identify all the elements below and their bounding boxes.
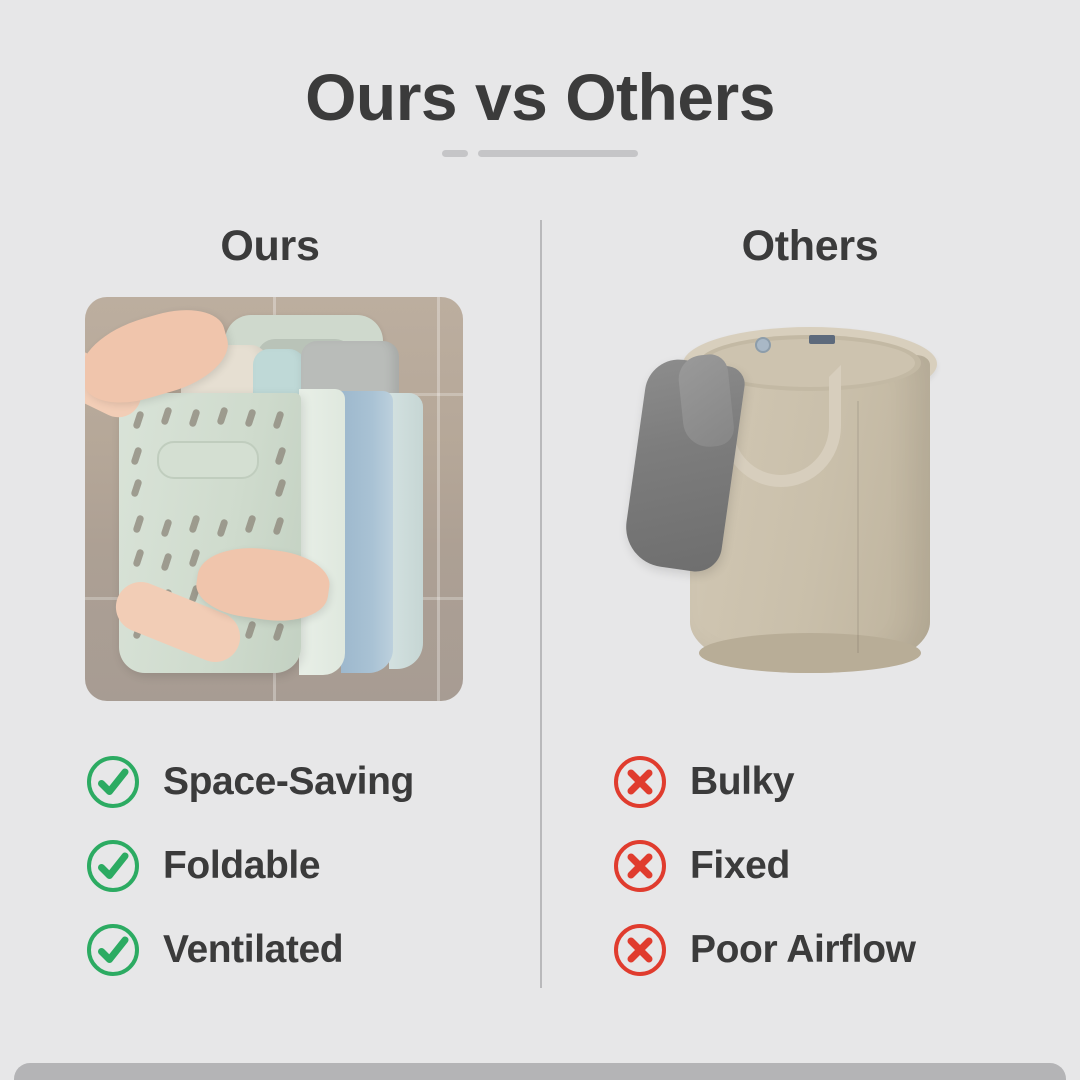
title-divider-long-segment bbox=[478, 150, 638, 157]
basket-blue-panel bbox=[341, 391, 393, 673]
tile-grout-line bbox=[437, 297, 440, 701]
x-circle-icon bbox=[612, 838, 668, 894]
hamper-seam bbox=[857, 401, 859, 653]
feature-label: Fixed bbox=[690, 844, 790, 888]
feature-row: Space-Saving bbox=[0, 740, 540, 824]
column-heading-others: Others bbox=[540, 222, 1080, 271]
x-circle-icon bbox=[612, 922, 668, 978]
basket-front-handle-slot bbox=[157, 441, 259, 479]
product-photo-others bbox=[595, 305, 1025, 705]
feature-label: Bulky bbox=[690, 760, 794, 804]
page-title: Ours vs Others bbox=[0, 64, 1080, 130]
feature-label: Foldable bbox=[163, 844, 320, 888]
bottom-accent-bar bbox=[14, 1063, 1066, 1080]
feature-label: Poor Airflow bbox=[690, 928, 916, 972]
hamper-grommet bbox=[755, 337, 771, 353]
x-circle-icon bbox=[612, 754, 668, 810]
comparison-section: Ours bbox=[0, 212, 1080, 1002]
feature-list-ours: Space-Saving Foldable Ve bbox=[0, 740, 540, 992]
title-divider-short-segment bbox=[442, 150, 468, 157]
check-circle-icon bbox=[85, 754, 141, 810]
check-circle-icon bbox=[85, 838, 141, 894]
column-ours: Ours bbox=[0, 212, 540, 1002]
column-heading-ours: Ours bbox=[0, 222, 540, 271]
hamper-base bbox=[699, 633, 921, 673]
hamper-brand-tag bbox=[809, 335, 835, 344]
feature-list-others: Bulky Fixed Poor Airflow bbox=[540, 740, 1080, 992]
feature-label: Space-Saving bbox=[163, 760, 414, 804]
photo-area-ours bbox=[0, 297, 540, 717]
column-others: Others bbox=[540, 212, 1080, 1002]
feature-row: Poor Airflow bbox=[540, 908, 1080, 992]
title-divider bbox=[0, 150, 1080, 157]
feature-row: Fixed bbox=[540, 824, 1080, 908]
feature-row: Foldable bbox=[0, 824, 540, 908]
basket-middle-panel bbox=[299, 389, 345, 675]
photo-area-others bbox=[540, 297, 1080, 717]
basket-side-panel bbox=[389, 393, 423, 669]
feature-label: Ventilated bbox=[163, 928, 343, 972]
feature-row: Ventilated bbox=[0, 908, 540, 992]
feature-row: Bulky bbox=[540, 740, 1080, 824]
title-block: Ours vs Others bbox=[0, 64, 1080, 157]
product-photo-ours bbox=[85, 297, 463, 701]
check-circle-icon bbox=[85, 922, 141, 978]
